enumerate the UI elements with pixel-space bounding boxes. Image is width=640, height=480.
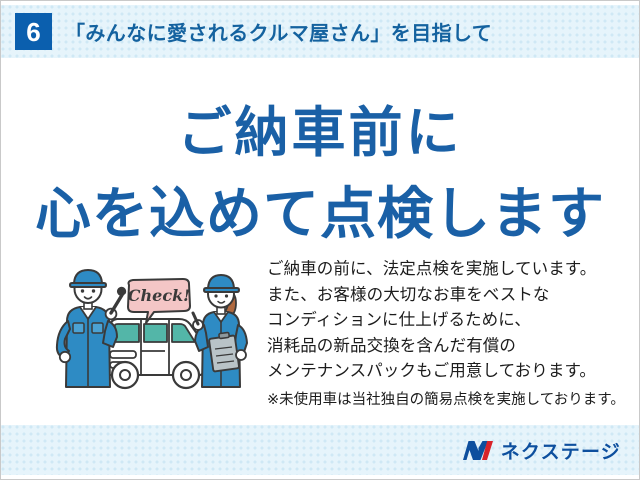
body-line: コンディションに仕上げるために、 xyxy=(267,308,627,334)
headline-secondary: 心を込めて点検します xyxy=(1,169,639,250)
body-copy: ご納車の前に、法定点検を実施しています。 また、お客様の大切なお車をベストな コ… xyxy=(267,257,627,413)
header: 6 「みんなに愛されるクルマ屋さん」を目指して xyxy=(1,5,639,58)
body-line: ご納車の前に、法定点検を実施しています。 xyxy=(267,257,627,283)
step-number-badge: 6 xyxy=(15,13,52,50)
illustration-svg: Check! xyxy=(53,263,263,397)
advertisement-canvas: 6 「みんなに愛されるクルマ屋さん」を目指して ご納車前に 心を込めて点検します xyxy=(0,0,640,480)
van-illustration xyxy=(106,319,204,388)
nextage-n-mark-icon xyxy=(463,440,493,461)
nextage-logo: ネクステージ xyxy=(463,425,621,475)
mechanics-illustration: Check! xyxy=(53,263,263,397)
body-line: 消耗品の新品交換を含んだ有償の xyxy=(267,334,627,360)
check-speech-bubble: Check! xyxy=(128,279,190,323)
check-bubble-text: Check! xyxy=(128,286,190,305)
body-note: ※未使用車は当社独自の簡易点検を実施しております。 xyxy=(267,388,627,413)
headline-primary: ご納車前に xyxy=(1,88,639,167)
nextage-logo-text: ネクステージ xyxy=(501,437,621,464)
body-line: メンテナンスパックもご用意しております。 xyxy=(267,359,627,385)
body-line: また、お客様の大切なお車をベストな xyxy=(267,283,627,309)
header-title: 「みんなに愛されるクルマ屋さん」を目指して xyxy=(65,17,492,46)
